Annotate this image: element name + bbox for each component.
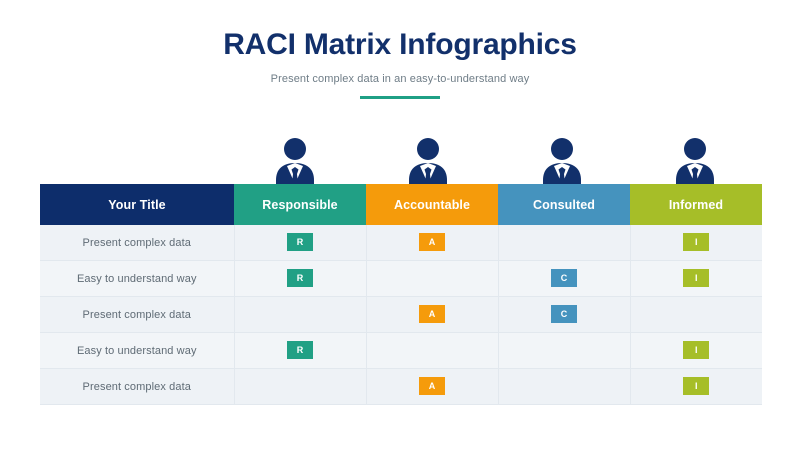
cell-accountable[interactable] xyxy=(366,333,498,369)
person-businessman-icon xyxy=(406,136,450,184)
badge-informed: I xyxy=(683,233,709,251)
column-header-responsible[interactable]: Responsible xyxy=(234,184,366,225)
person-businessman-icon xyxy=(673,136,717,184)
table-row[interactable]: Present complex data R A I xyxy=(40,225,762,261)
badge-responsible: R xyxy=(287,269,313,287)
slide-canvas: RACI Matrix Infographics Present complex… xyxy=(0,0,800,450)
table-header: Your Title Responsible Accountable Consu… xyxy=(40,184,762,225)
cell-consulted[interactable] xyxy=(498,333,630,369)
cell-responsible[interactable] xyxy=(234,369,366,405)
cell-informed[interactable]: I xyxy=(630,261,762,297)
person-icon-accountable xyxy=(362,132,496,184)
row-label: Easy to understand way xyxy=(40,333,234,369)
column-header-informed[interactable]: Informed xyxy=(630,184,762,225)
row-label: Present complex data xyxy=(40,369,234,405)
cell-accountable[interactable]: A xyxy=(366,297,498,333)
column-header-your-title[interactable]: Your Title xyxy=(40,184,234,225)
table-body: Present complex data R A I Easy to under… xyxy=(40,225,762,405)
cell-informed[interactable]: I xyxy=(630,225,762,261)
cell-accountable[interactable] xyxy=(366,261,498,297)
badge-consulted: C xyxy=(551,305,577,323)
badge-accountable: A xyxy=(419,233,445,251)
table-row[interactable]: Present complex data A C xyxy=(40,297,762,333)
cell-consulted[interactable] xyxy=(498,369,630,405)
raci-matrix-table: Your Title Responsible Accountable Consu… xyxy=(40,184,762,405)
cell-accountable[interactable]: A xyxy=(366,225,498,261)
cell-responsible[interactable] xyxy=(234,297,366,333)
badge-responsible: R xyxy=(287,341,313,359)
cell-informed[interactable]: I xyxy=(630,333,762,369)
badge-accountable: A xyxy=(419,377,445,395)
column-header-accountable[interactable]: Accountable xyxy=(366,184,498,225)
person-icons-row xyxy=(228,132,762,184)
person-businessman-icon xyxy=(273,136,317,184)
row-label: Present complex data xyxy=(40,225,234,261)
column-header-consulted[interactable]: Consulted xyxy=(498,184,630,225)
title-block: RACI Matrix Infographics Present complex… xyxy=(0,28,800,99)
cell-consulted[interactable]: C xyxy=(498,261,630,297)
row-label: Easy to understand way xyxy=(40,261,234,297)
cell-responsible[interactable]: R xyxy=(234,333,366,369)
cell-consulted[interactable] xyxy=(498,225,630,261)
header-row: Your Title Responsible Accountable Consu… xyxy=(40,184,762,225)
cell-informed[interactable] xyxy=(630,297,762,333)
page-subtitle: Present complex data in an easy-to-under… xyxy=(0,73,800,85)
cell-accountable[interactable]: A xyxy=(366,369,498,405)
person-businessman-icon xyxy=(540,136,584,184)
badge-informed: I xyxy=(683,377,709,395)
table-row[interactable]: Easy to understand way R C I xyxy=(40,261,762,297)
badge-accountable: A xyxy=(419,305,445,323)
badge-consulted: C xyxy=(551,269,577,287)
cell-responsible[interactable]: R xyxy=(234,225,366,261)
page-title: RACI Matrix Infographics xyxy=(0,28,800,63)
cell-consulted[interactable]: C xyxy=(498,297,630,333)
table-row[interactable]: Easy to understand way R I xyxy=(40,333,762,369)
person-icon-responsible xyxy=(228,132,362,184)
badge-informed: I xyxy=(683,341,709,359)
person-icon-informed xyxy=(629,132,763,184)
row-label: Present complex data xyxy=(40,297,234,333)
cell-informed[interactable]: I xyxy=(630,369,762,405)
badge-informed: I xyxy=(683,269,709,287)
table-row[interactable]: Present complex data A I xyxy=(40,369,762,405)
person-icon-consulted xyxy=(495,132,629,184)
title-divider-rule xyxy=(360,96,440,99)
badge-responsible: R xyxy=(287,233,313,251)
cell-responsible[interactable]: R xyxy=(234,261,366,297)
